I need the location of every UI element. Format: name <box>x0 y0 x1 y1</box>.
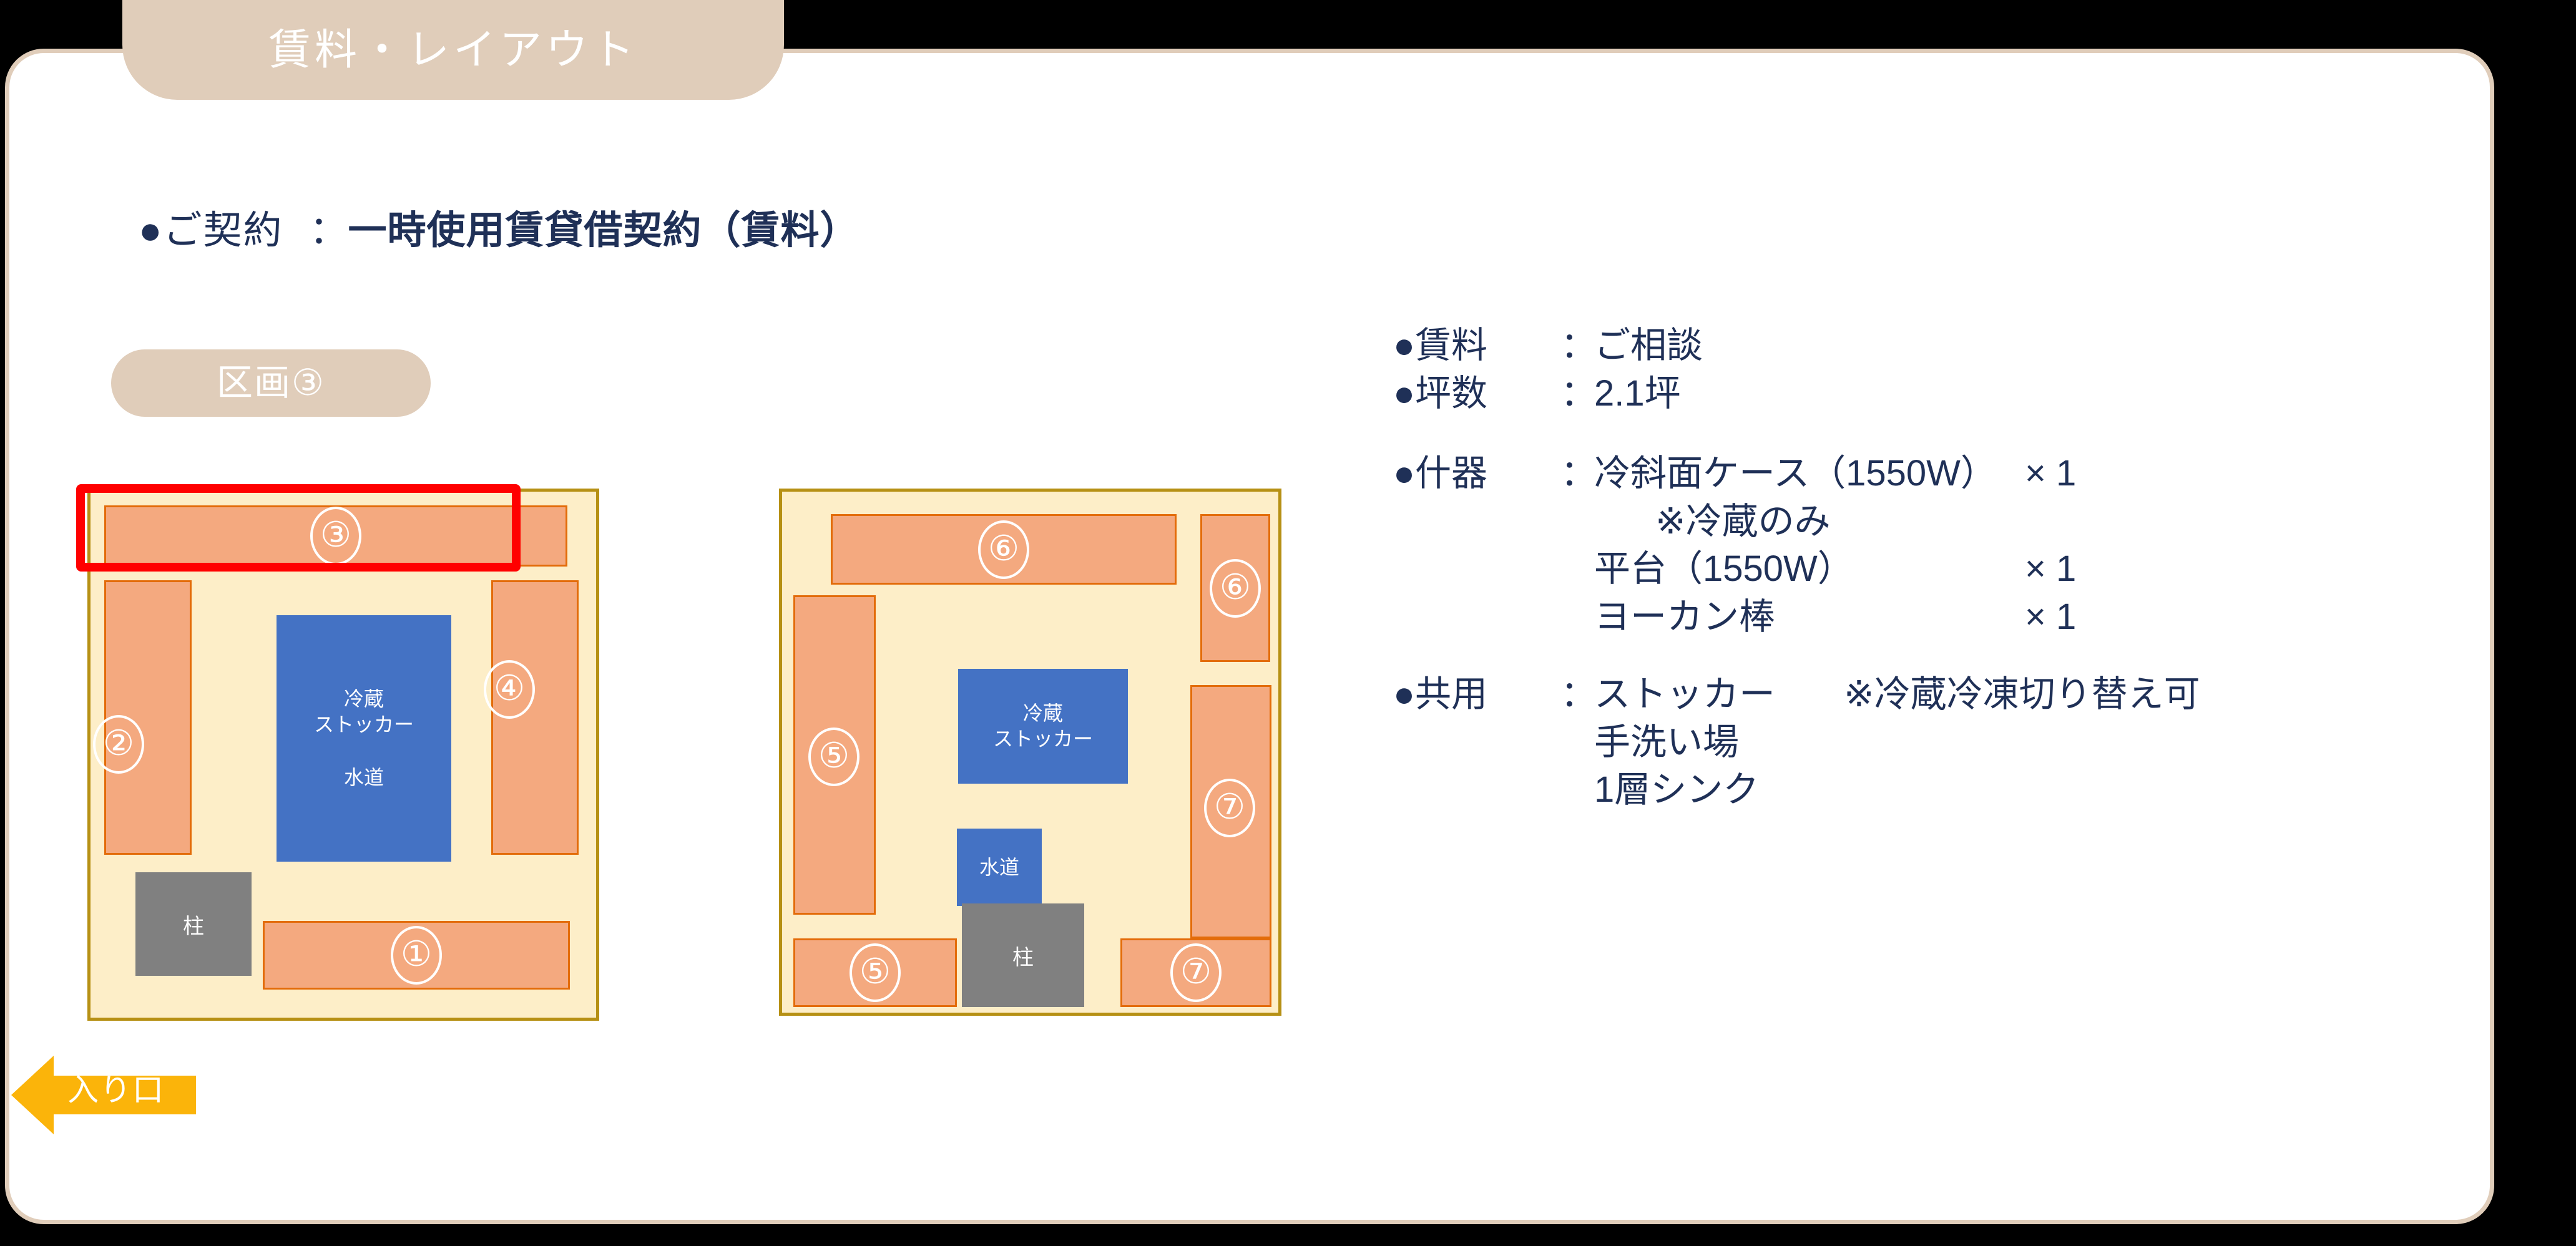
floor-plan-right: ⑥ ⑥ ⑤ ⑤ ⑦ ⑦ 冷蔵 ストッカー 水道 柱 <box>779 489 1281 1016</box>
header-tab: 賃料・レイアウト <box>122 0 784 100</box>
pillar-right-label: 柱 <box>1012 940 1034 971</box>
info-equipment-bullet: ●什器 <box>1393 450 1560 498</box>
header-tab-label: 賃料・レイアウト <box>268 29 638 71</box>
slide-root: 賃料・レイアウト ● ご契約 ： 一時使用賃貸借契約（賃料） 区画③ ③ ② ④… <box>0 0 2576 1246</box>
info-area-separator: ： <box>1560 370 1594 418</box>
contract-value: 一時使用賃貸借契約（賃料） <box>348 198 859 255</box>
water-supply-left-label: 水道 <box>344 765 384 791</box>
info-equipment-note-indent <box>1393 498 1655 546</box>
cold-stocker-left-line1: 冷蔵 <box>344 686 384 712</box>
contract-line: ● ご契約 ： 一時使用賃貸借契約（賃料） <box>139 198 859 255</box>
pillar-right: 柱 <box>962 903 1084 1007</box>
fixture-2-badge: ② <box>93 715 144 774</box>
fixture-5a-badge: ⑤ <box>808 728 859 786</box>
info-row-equipment-2: 平台（1550W） × 1 <box>1393 545 2200 593</box>
info-row-shared-2: 手洗い場 <box>1393 719 2200 767</box>
info-shared-bullet: ●共用 <box>1393 671 1560 719</box>
contract-bullet: ● <box>139 208 163 253</box>
info-shared-item-2-indent <box>1393 719 1594 767</box>
info-equipment-item-1-qty: × 1 <box>2025 450 2076 498</box>
entrance-arrow-label: 入り口 <box>67 1074 165 1106</box>
contract-separator: ： <box>283 198 348 255</box>
fixture-6a-badge: ⑥ <box>978 520 1029 579</box>
info-row-equipment-3: ヨーカン棒 × 1 <box>1393 593 2200 641</box>
info-shared-item-2: 手洗い場 <box>1594 719 1739 767</box>
highlight-box-fixture-3 <box>76 484 521 572</box>
info-rent-value: ご相談 <box>1594 322 1703 370</box>
contract-label: ご契約 <box>163 198 283 255</box>
fixture-5b[interactable]: ⑤ <box>793 938 957 1007</box>
info-equipment-item-3-name: ヨーカン棒 <box>1594 593 2025 641</box>
info-area-bullet: ●坪数 <box>1393 370 1560 418</box>
cold-stocker-right-line1: 冷蔵 <box>1023 701 1063 726</box>
fixture-7b-badge: ⑦ <box>1170 943 1222 1002</box>
info-equipment-item-3-qty: × 1 <box>2025 593 2076 641</box>
info-equipment-item-2-qty: × 1 <box>2025 545 2076 593</box>
info-gap-1 <box>1393 417 2200 450</box>
info-shared-item-3-indent <box>1393 766 1594 814</box>
info-row-area: ●坪数 ： 2.1坪 <box>1393 370 2200 418</box>
info-area-value: 2.1坪 <box>1594 370 1681 418</box>
info-shared-note-gap <box>1775 671 1844 719</box>
fixture-5b-badge: ⑤ <box>850 943 901 1002</box>
fixture-1-badge: ① <box>391 926 442 985</box>
pillar-left-label: 柱 <box>183 909 204 940</box>
info-panel: ●賃料 ： ご相談 ●坪数 ： 2.1坪 ●什器 ： 冷斜面ケース（1550W）… <box>1393 322 2200 814</box>
info-shared-separator: ： <box>1560 671 1594 719</box>
cold-stocker-left: 冷蔵 ストッカー 水道 <box>277 615 451 862</box>
info-row-equipment-note: ※冷蔵のみ <box>1393 498 2200 546</box>
info-equipment-separator: ： <box>1560 450 1594 498</box>
info-equipment-item-2-name: 平台（1550W） <box>1594 545 2025 593</box>
info-equipment-item-2-indent <box>1393 545 1594 593</box>
cold-stocker-left-line2: ストッカー <box>314 712 414 737</box>
fixture-7a-badge: ⑦ <box>1204 779 1255 837</box>
pillar-left: 柱 <box>135 872 252 976</box>
info-equipment-item-3-indent <box>1393 593 1594 641</box>
info-equipment-note: ※冷蔵のみ <box>1655 498 1831 546</box>
fixture-4-badge: ④ <box>484 660 535 719</box>
fixture-6b-badge: ⑥ <box>1210 559 1261 618</box>
info-row-equipment-1: ●什器 ： 冷斜面ケース（1550W） × 1 <box>1393 450 2200 498</box>
fixture-6a[interactable]: ⑥ <box>831 514 1177 585</box>
cold-stocker-right: 冷蔵 ストッカー <box>958 669 1128 784</box>
info-row-rent: ●賃料 ： ご相談 <box>1393 322 2200 370</box>
info-shared-note: ※冷蔵冷凍切り替え可 <box>1844 671 2200 719</box>
info-gap-2 <box>1393 641 2200 671</box>
info-shared-item-3: 1層シンク <box>1594 766 1759 814</box>
info-rent-separator: ： <box>1560 322 1594 370</box>
entrance-arrow: 入り口 <box>11 1056 196 1134</box>
fixture-6b[interactable]: ⑥ <box>1200 514 1270 662</box>
water-supply-right-label: 水道 <box>979 855 1019 880</box>
section-pill-label: 区画③ <box>217 365 325 401</box>
info-rent-bullet: ●賃料 <box>1393 322 1560 370</box>
info-row-shared-3: 1層シンク <box>1393 766 2200 814</box>
section-pill-kukaku3: 区画③ <box>111 349 431 417</box>
info-row-shared-1: ●共用 ： ストッカー ※冷蔵冷凍切り替え可 <box>1393 671 2200 719</box>
fixture-7b[interactable]: ⑦ <box>1120 938 1271 1007</box>
fixture-1[interactable]: ① <box>263 921 570 990</box>
info-shared-item-1: ストッカー <box>1594 671 1775 719</box>
cold-stocker-right-line2: ストッカー <box>993 726 1093 752</box>
water-supply-right: 水道 <box>957 829 1042 906</box>
info-equipment-item-1-name: 冷斜面ケース（1550W） <box>1594 450 2025 498</box>
